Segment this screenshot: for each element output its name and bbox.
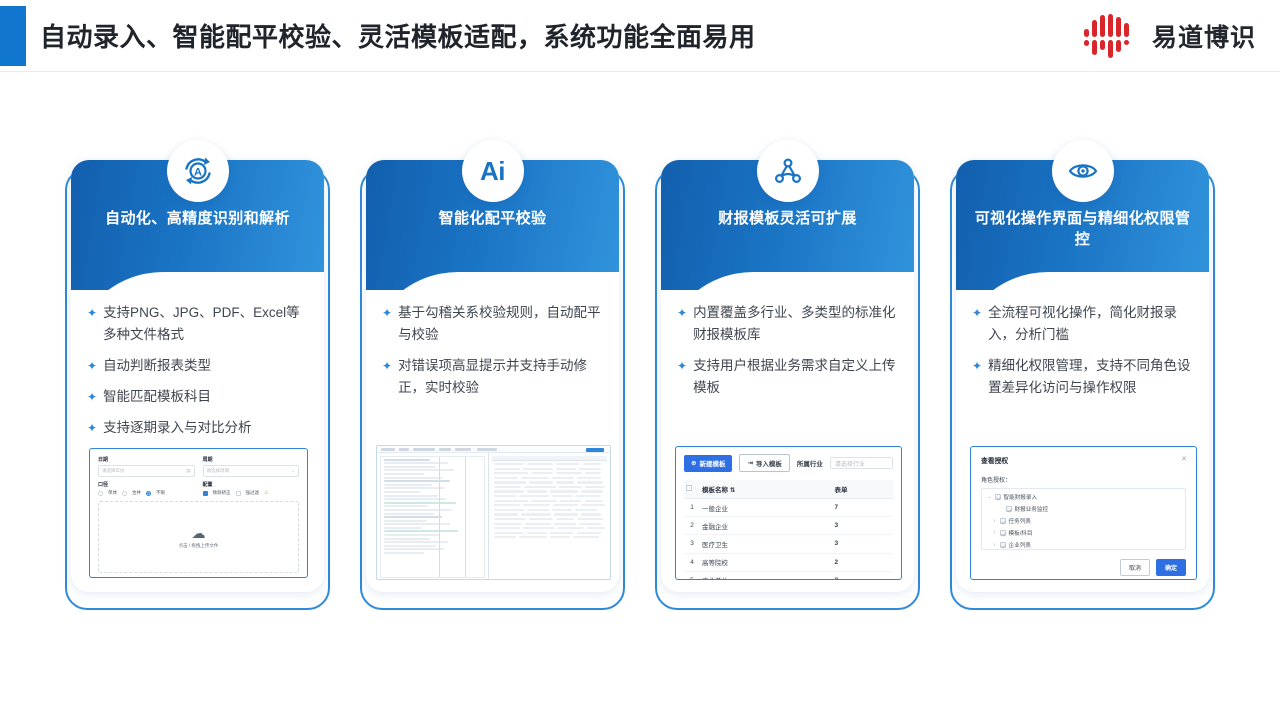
tree-node[interactable]: › 企业列表	[987, 541, 1180, 549]
page-title: 自动录入、智能配平校验、灵活模板适配，系统功能全面易用	[40, 17, 756, 54]
screenshot-upload-form: 日期 请选择年份 ▤ 周期 请选择周期 ⌄	[89, 448, 308, 578]
date-placeholder: 请选择年份	[102, 468, 125, 474]
row-form-count[interactable]: 3	[833, 535, 893, 553]
radio-single[interactable]	[98, 491, 103, 496]
import-icon: ⇥	[747, 459, 752, 467]
row-index: 2	[684, 517, 700, 535]
card-title: 可视化操作界面与精细化权限管控	[970, 208, 1195, 250]
plus-circle-icon: ⊕	[691, 459, 696, 467]
diamond-bullet-icon: ✦	[87, 417, 97, 439]
row-index: 4	[684, 553, 700, 571]
list-item: ✦ 精细化权限管理，支持不同角色设置差异化访问与操作权限	[972, 355, 1197, 399]
card-icon-badge: A	[167, 140, 229, 202]
row-template-name: 金融企业	[700, 517, 833, 535]
tree-node[interactable]: 财报业务监控	[987, 505, 1180, 513]
period-placeholder: 请选择周期	[207, 468, 230, 474]
diamond-bullet-icon: ✦	[382, 302, 392, 324]
checkbox-deskew-label: 倾斜矫正	[213, 490, 231, 496]
mock-table-header	[492, 456, 607, 461]
checkbox-strongfilter[interactable]	[236, 491, 241, 496]
tree-checkbox[interactable]	[1000, 530, 1006, 536]
radio-merged[interactable]	[122, 491, 127, 496]
list-item: ✦ 全流程可视化操作，简化财报录入，分析门槛	[972, 302, 1197, 346]
chevron-right-icon[interactable]: ›	[992, 530, 997, 536]
diamond-bullet-icon: ✦	[87, 386, 97, 408]
row-form-count[interactable]: 2	[833, 553, 893, 571]
card-body: ✦ 支持PNG、JPG、PDF、Excel等多种文件格式 ✦ 自动判断报表类型 …	[71, 272, 324, 592]
feature-card-4: 可视化操作界面与精细化权限管控 ✦ 全流程可视化操作，简化财报录入，分析门槛 ✦…	[950, 140, 1215, 610]
slide-header: 自动录入、智能配平校验、灵活模板适配，系统功能全面易用 易道博识	[0, 0, 1280, 72]
dropzone-label: 点击 / 拖拽上传文件	[179, 543, 219, 549]
list-item: ✦ 对错误项高显提示并支持手动修正，实时校验	[382, 355, 607, 399]
table-row[interactable]: 1 一般企业 7	[684, 499, 893, 517]
chevron-right-icon[interactable]: ›	[992, 542, 997, 548]
diamond-bullet-icon: ✦	[677, 302, 687, 324]
caliber-radios: 单体 合并 不限	[98, 490, 195, 496]
table-toolbar: ⊕ 新建模板 ⇥ 导入模板 所属行业 请选择行业	[684, 454, 893, 472]
bullet-text: 智能匹配模板科目	[103, 386, 312, 408]
config-label: 配置	[203, 481, 300, 488]
mock-document-pane	[377, 453, 489, 580]
radio-any-label: 不限	[156, 490, 165, 496]
diamond-bullet-icon: ✦	[382, 355, 392, 377]
tree-checkbox[interactable]	[1000, 518, 1006, 524]
table-row[interactable]: 4 高等院校 2	[684, 553, 893, 571]
file-dropzone[interactable]: ☁ 点击 / 拖拽上传文件	[98, 501, 299, 573]
row-index: 3	[684, 535, 700, 553]
mock-panes	[377, 453, 610, 580]
card-surface: 智能化配平校验 ✦ 基于勾稽关系校验规则，自动配平与校验 ✦ 对错误项高显提示并…	[366, 160, 619, 592]
period-field-group: 周期 请选择周期 ⌄	[203, 456, 300, 481]
column-header-forms: 表单	[833, 480, 893, 499]
industry-filter-label: 所属行业	[797, 458, 823, 468]
tree-checkbox[interactable]	[995, 494, 1001, 500]
date-field-label: 日期	[98, 456, 195, 463]
sort-icon[interactable]: ⇅	[730, 487, 735, 494]
card-body: ✦ 全流程可视化操作，简化财报录入，分析门槛 ✦ 精细化权限管理，支持不同角色设…	[956, 272, 1209, 592]
mock-data-table-pane	[489, 453, 610, 580]
row-template-name: 事业单位	[700, 571, 833, 580]
column-header-name[interactable]: 模板名称 ⇅	[700, 480, 833, 499]
checkbox-deskew[interactable]	[203, 491, 208, 496]
close-icon[interactable]: ✕	[1181, 455, 1187, 463]
tree-node-label: 企业列表	[1009, 541, 1031, 549]
card-title: 财报模板灵活可扩展	[675, 208, 900, 229]
period-select[interactable]: 请选择周期 ⌄	[203, 465, 300, 477]
auto-refresh-a-icon: A	[181, 154, 215, 188]
radio-merged-label: 合并	[132, 490, 141, 496]
mock-primary-button	[586, 448, 604, 452]
import-template-label: 导入模板	[756, 458, 782, 468]
import-template-button[interactable]: ⇥ 导入模板	[739, 454, 789, 472]
bullet-text: 自动判断报表类型	[103, 355, 312, 377]
config-group: 配置 倾斜矫正 强过滤 ⚠	[203, 481, 300, 496]
tree-node[interactable]: › 模板/科目	[987, 529, 1180, 537]
chevron-down-icon: ⌄	[291, 468, 295, 474]
tree-checkbox[interactable]	[1000, 542, 1006, 548]
diamond-bullet-icon: ✦	[677, 355, 687, 377]
svg-text:A: A	[194, 166, 202, 178]
dialog-title: 查看授权	[981, 455, 1186, 465]
date-field-group: 日期 请选择年份 ▤	[98, 456, 195, 481]
tree-node-label: 模板/科目	[1009, 529, 1033, 537]
row-form-count[interactable]: 7	[833, 499, 893, 517]
bullet-text: 支持逐期录入与对比分析	[103, 417, 312, 439]
config-checkboxes: 倾斜矫正 强过滤 ⚠	[203, 490, 300, 496]
tree-node-label: 智能财报录入	[1004, 493, 1038, 501]
bullet-list: ✦ 全流程可视化操作，简化财报录入，分析门槛 ✦ 精细化权限管理，支持不同角色设…	[972, 302, 1197, 408]
list-item: ✦ 智能匹配模板科目	[87, 386, 312, 408]
option-row: 口径 单体 合并 不限 配置	[98, 481, 299, 496]
feature-card-2: 智能化配平校验 ✦ 基于勾稽关系校验规则，自动配平与校验 ✦ 对错误项高显提示并…	[360, 140, 625, 610]
template-table: 模板名称 ⇅ 表单 1 一般企业 7	[684, 480, 893, 580]
calendar-icon: ▤	[186, 468, 190, 474]
list-item: ✦ 支持PNG、JPG、PDF、Excel等多种文件格式	[87, 302, 312, 346]
warning-icon: ⚠	[264, 490, 268, 496]
bullet-text: 支持PNG、JPG、PDF、Excel等多种文件格式	[103, 302, 312, 346]
share-nodes-icon	[771, 154, 805, 188]
bullet-list: ✦ 内置覆盖多行业、多类型的标准化财报模板库 ✦ 支持用户根据业务需求自定义上传…	[677, 302, 902, 408]
feature-card-1: 自动化、高精度识别和解析 ✦ 支持PNG、JPG、PDF、Excel等多种文件格…	[65, 140, 330, 610]
row-form-count[interactable]: 3	[833, 517, 893, 535]
table-row[interactable]: 2 金融企业 3	[684, 517, 893, 535]
ai-text-icon: Ai	[480, 156, 505, 187]
brand-mark-icon	[1084, 14, 1140, 58]
bullet-text: 对错误项高显提示并支持手动修正，实时校验	[398, 355, 607, 399]
list-item: ✦ 自动判断报表类型	[87, 355, 312, 377]
permission-tree: ⌄ 智能财报录入 财报业务监控 › 任务列表	[981, 488, 1186, 550]
select-all-header	[684, 480, 700, 499]
table-header-row: 模板名称 ⇅ 表单	[684, 480, 893, 499]
column-label-name: 模板名称	[702, 487, 728, 494]
bullet-text: 基于勾稽关系校验规则，自动配平与校验	[398, 302, 607, 346]
tree-node[interactable]: ⌄ 智能财报录入	[987, 493, 1180, 501]
card-body: ✦ 基于勾稽关系校验规则，自动配平与校验 ✦ 对错误项高显提示并支持手动修正，实…	[366, 272, 619, 592]
chevron-down-icon[interactable]: ⌄	[987, 494, 992, 500]
screenshot-permission-dialog: 查看授权 ✕ 角色授权： ⌄ 智能财报录入 财报业务监控	[970, 446, 1197, 580]
table-row[interactable]: 5 事业单位 2	[684, 571, 893, 580]
brand-logo: 易道博识	[1084, 12, 1256, 60]
industry-filter-select[interactable]: 请选择行业	[830, 457, 893, 469]
industry-filter-placeholder: 请选择行业	[835, 459, 865, 468]
tree-node[interactable]: › 任务列表	[987, 517, 1180, 525]
date-input[interactable]: 请选择年份 ▤	[98, 465, 195, 477]
radio-any[interactable]	[146, 491, 151, 496]
row-index: 5	[684, 571, 700, 580]
chevron-right-icon[interactable]: ›	[992, 518, 997, 524]
diamond-bullet-icon: ✦	[972, 355, 982, 377]
form-row: 日期 请选择年份 ▤ 周期 请选择周期 ⌄	[98, 456, 299, 481]
mock-toolbar	[377, 446, 610, 453]
bullet-text: 全流程可视化操作，简化财报录入，分析门槛	[988, 302, 1197, 346]
header-accent-bar	[0, 6, 26, 66]
bullet-text: 内置覆盖多行业、多类型的标准化财报模板库	[693, 302, 902, 346]
card-title: 自动化、高精度识别和解析	[85, 208, 310, 229]
diamond-bullet-icon: ✦	[972, 302, 982, 324]
new-template-button[interactable]: ⊕ 新建模板	[684, 455, 732, 472]
tree-node-label: 财报业务监控	[1015, 505, 1049, 513]
feature-card-3: 财报模板灵活可扩展 ✦ 内置覆盖多行业、多类型的标准化财报模板库 ✦ 支持用户根…	[655, 140, 920, 610]
caliber-group: 口径 单体 合并 不限	[98, 481, 195, 496]
list-item: ✦ 内置覆盖多行业、多类型的标准化财报模板库	[677, 302, 902, 346]
list-item: ✦ 支持逐期录入与对比分析	[87, 417, 312, 439]
list-item: ✦ 支持用户根据业务需求自定义上传模板	[677, 355, 902, 399]
diamond-bullet-icon: ✦	[87, 302, 97, 324]
card-surface: 财报模板灵活可扩展 ✦ 内置覆盖多行业、多类型的标准化财报模板库 ✦ 支持用户根…	[661, 160, 914, 592]
card-surface: 自动化、高精度识别和解析 ✦ 支持PNG、JPG、PDF、Excel等多种文件格…	[71, 160, 324, 592]
bullet-text: 支持用户根据业务需求自定义上传模板	[693, 355, 902, 399]
diamond-bullet-icon: ✦	[87, 355, 97, 377]
tree-node-label: 任务列表	[1009, 517, 1031, 525]
caliber-label: 口径	[98, 481, 195, 488]
table-body: 1 一般企业 7 2 金融企业 3 3 医疗卫生	[684, 499, 893, 581]
bullet-list: ✦ 基于勾稽关系校验规则，自动配平与校验 ✦ 对错误项高显提示并支持手动修正，实…	[382, 302, 607, 408]
card-body: ✦ 内置覆盖多行业、多类型的标准化财报模板库 ✦ 支持用户根据业务需求自定义上传…	[661, 272, 914, 592]
tree-checkbox[interactable]	[1006, 506, 1012, 512]
mock-scanned-report	[380, 456, 485, 578]
new-template-label: 新建模板	[699, 458, 725, 468]
table-row[interactable]: 3 医疗卫生 3	[684, 535, 893, 553]
brand-name: 易道博识	[1152, 18, 1256, 54]
screenshot-template-table: ⊕ 新建模板 ⇥ 导入模板 所属行业 请选择行业	[675, 446, 902, 580]
period-field-label: 周期	[203, 456, 300, 463]
feature-card-grid: 自动化、高精度识别和解析 ✦ 支持PNG、JPG、PDF、Excel等多种文件格…	[0, 140, 1280, 610]
card-icon-badge	[757, 140, 819, 202]
cancel-button[interactable]: 取消	[1120, 559, 1150, 576]
screenshot-document-compare	[376, 445, 611, 580]
checkbox-strongfilter-label: 强过滤	[246, 490, 260, 496]
list-item: ✦ 基于勾稽关系校验规则，自动配平与校验	[382, 302, 607, 346]
radio-single-label: 单体	[108, 490, 117, 496]
row-index: 1	[684, 499, 700, 517]
role-permission-label: 角色授权：	[981, 475, 1186, 484]
card-icon-badge: Ai	[462, 140, 524, 202]
dialog-actions: 取消 确定	[981, 559, 1186, 576]
card-surface: 可视化操作界面与精细化权限管控 ✦ 全流程可视化操作，简化财报录入，分析门槛 ✦…	[956, 160, 1209, 592]
cloud-upload-icon: ☁	[192, 526, 206, 540]
row-template-name: 一般企业	[700, 499, 833, 517]
row-template-name: 高等院校	[700, 553, 833, 571]
eye-icon	[1066, 154, 1100, 188]
row-form-count[interactable]: 2	[833, 571, 893, 580]
card-title: 智能化配平校验	[380, 208, 605, 229]
row-template-name: 医疗卫生	[700, 535, 833, 553]
select-all-checkbox[interactable]	[686, 485, 692, 491]
confirm-button[interactable]: 确定	[1156, 559, 1186, 576]
card-icon-badge	[1052, 140, 1114, 202]
bullet-text: 精细化权限管理，支持不同角色设置差异化访问与操作权限	[988, 355, 1197, 399]
bullet-list: ✦ 支持PNG、JPG、PDF、Excel等多种文件格式 ✦ 自动判断报表类型 …	[87, 302, 312, 448]
